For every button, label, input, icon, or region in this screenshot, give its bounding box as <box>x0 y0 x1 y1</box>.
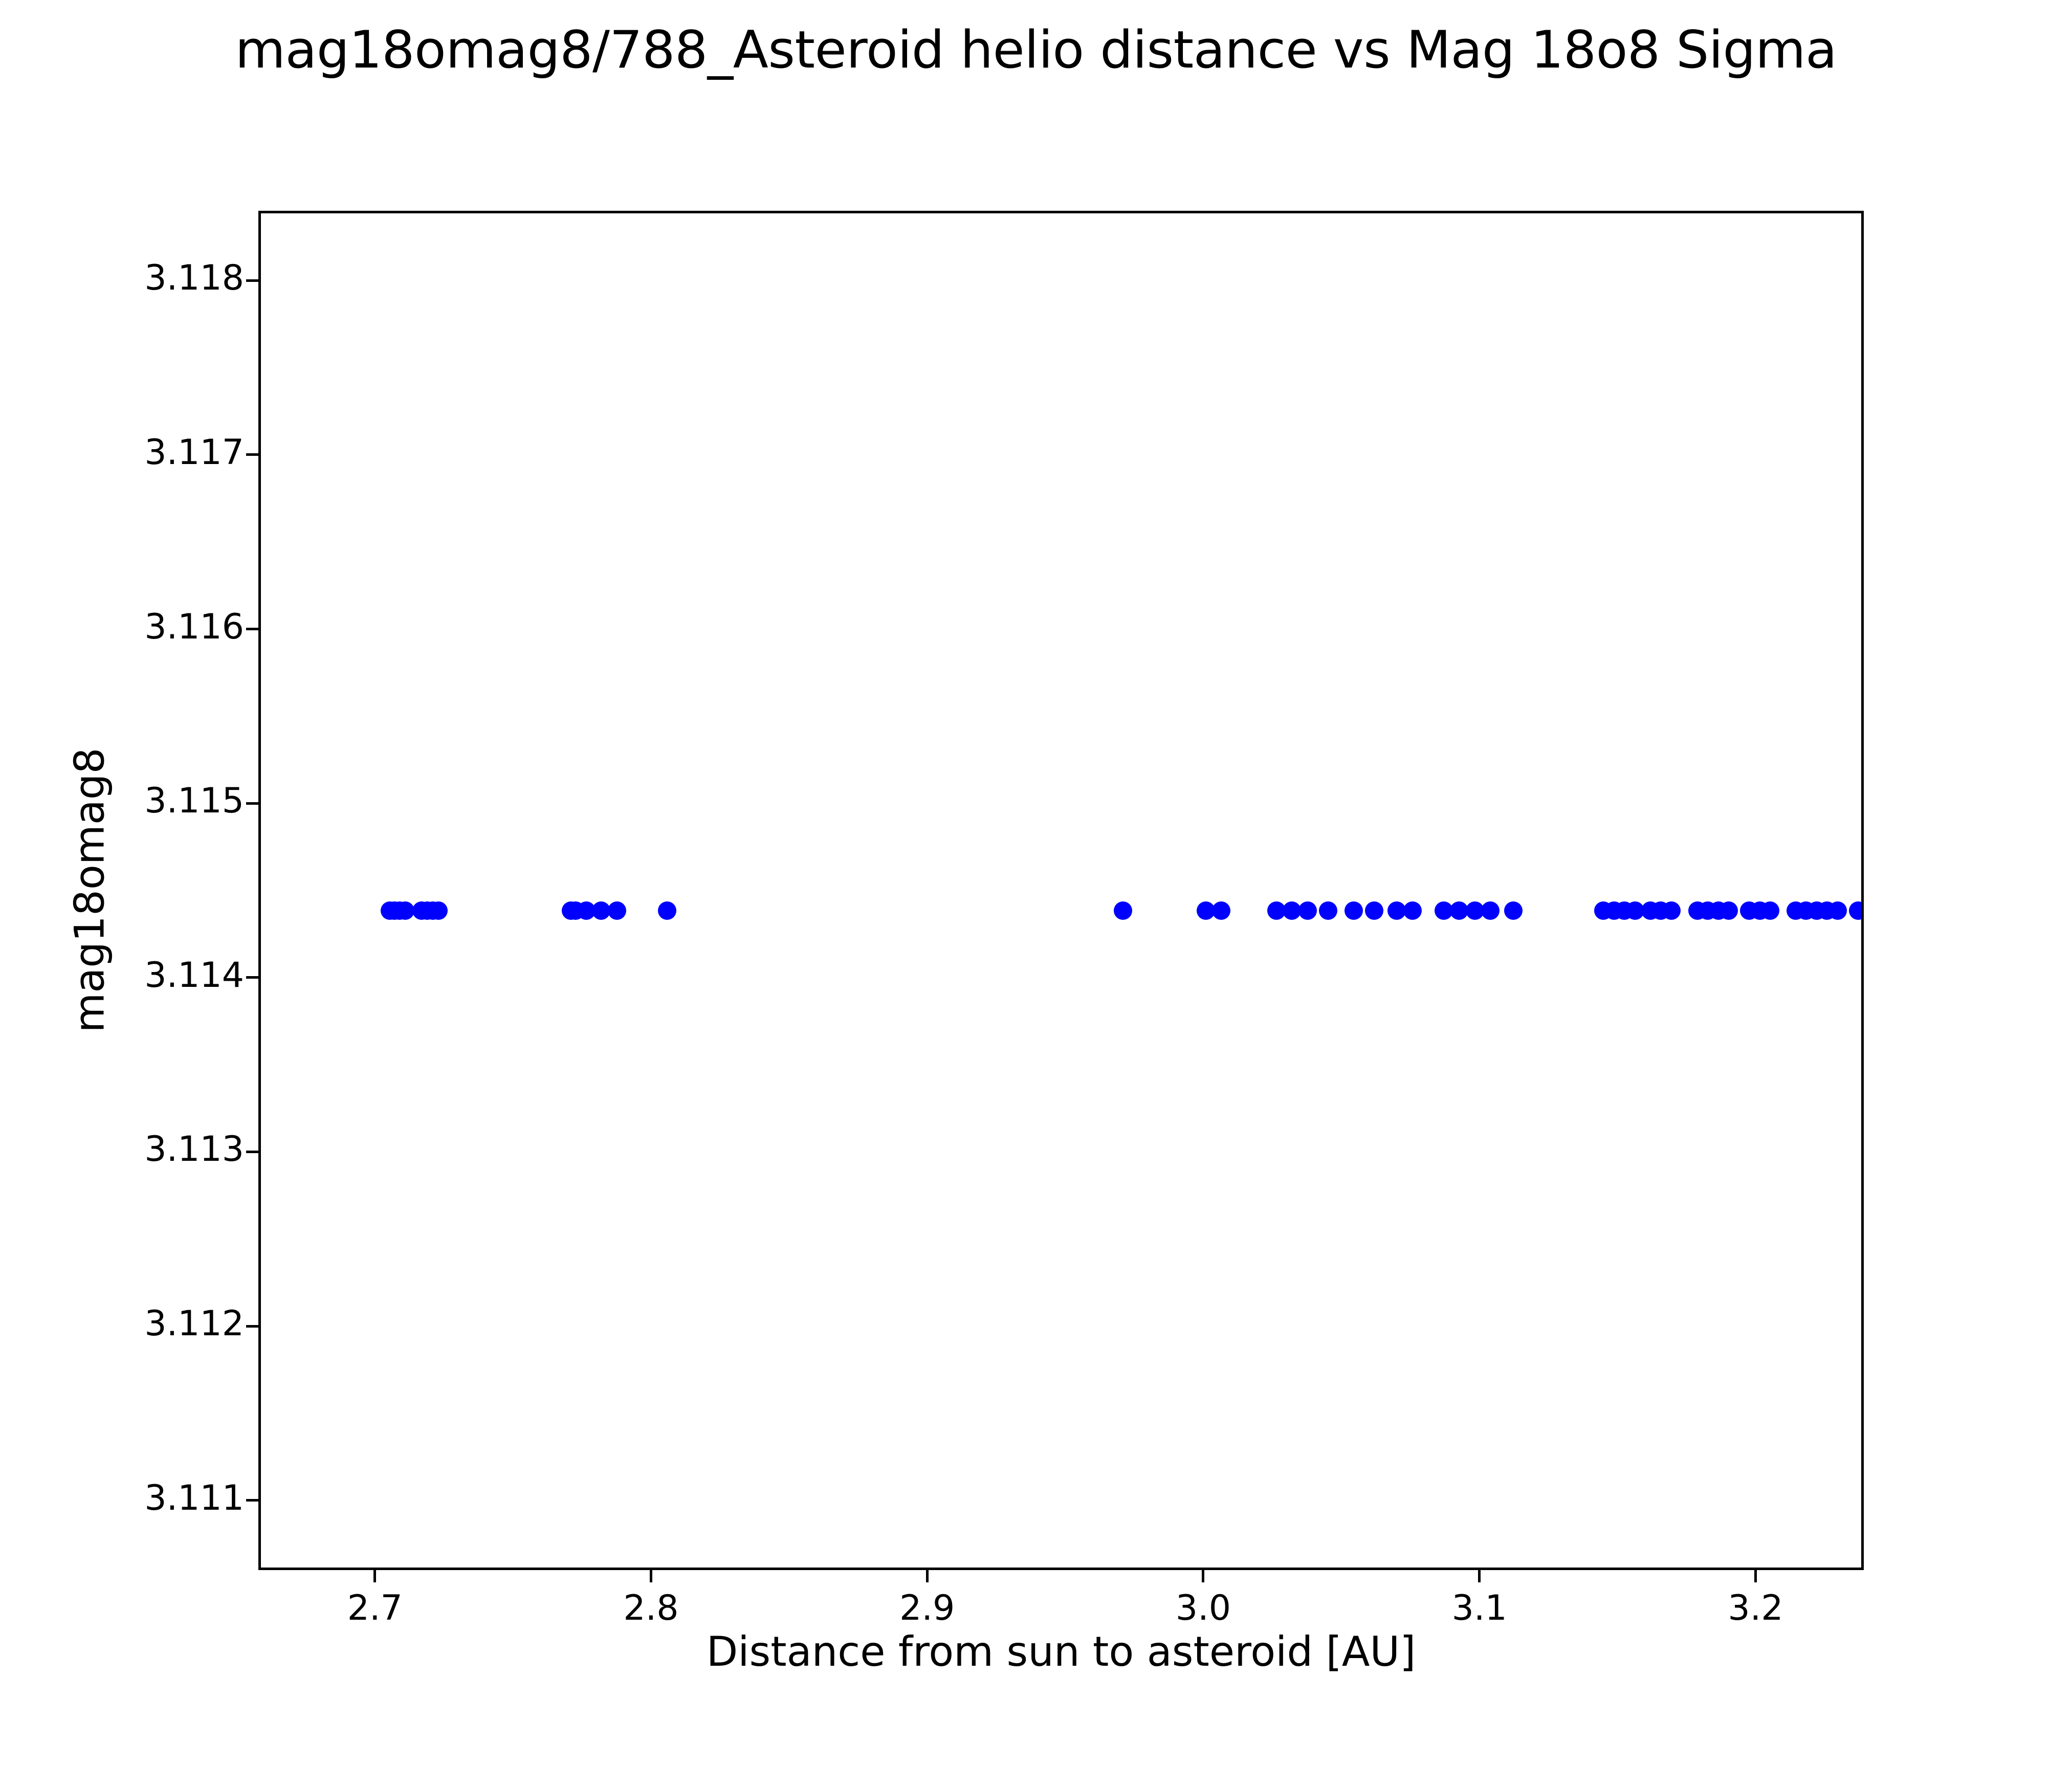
scatter-point <box>1662 901 1681 920</box>
scatter-point <box>1761 901 1779 920</box>
x-tick-mark <box>926 1570 929 1582</box>
x-tick-mark <box>373 1570 376 1582</box>
plot-area <box>258 211 1864 1570</box>
scatter-point <box>396 901 414 920</box>
x-tick-label: 3.2 <box>1679 1588 1832 1628</box>
x-tick-label: 3.1 <box>1403 1588 1556 1628</box>
scatter-point <box>608 901 626 920</box>
scatter-point <box>1481 901 1500 920</box>
scatter-point <box>1849 901 1861 920</box>
scatter-point <box>1298 901 1317 920</box>
x-tick-mark <box>1202 1570 1204 1582</box>
scatter-point <box>429 901 448 920</box>
scatter-point <box>1720 901 1738 920</box>
chart-figure: mag18omag8/788_Asteroid helio distance v… <box>0 0 2072 1765</box>
scatter-point <box>1212 901 1230 920</box>
x-tick-label: 3.0 <box>1127 1588 1280 1628</box>
x-tick-label: 2.9 <box>850 1588 1004 1628</box>
x-tick-label: 2.7 <box>298 1588 452 1628</box>
scatter-point <box>1828 901 1847 920</box>
scatter-point <box>1319 901 1337 920</box>
x-axis-label: Distance from sun to asteroid [AU] <box>258 1628 1864 1675</box>
x-tick-mark <box>1478 1570 1481 1582</box>
x-tick-mark <box>650 1570 652 1582</box>
scatter-point <box>658 901 676 920</box>
scatter-point <box>1344 901 1363 920</box>
scatter-point <box>1365 901 1383 920</box>
scatter-points-layer <box>261 213 1861 1568</box>
x-tick-label: 2.8 <box>574 1588 728 1628</box>
scatter-point <box>1114 901 1132 920</box>
scatter-point <box>1403 901 1422 920</box>
scatter-point <box>1504 901 1523 920</box>
x-tick-mark <box>1754 1570 1757 1582</box>
